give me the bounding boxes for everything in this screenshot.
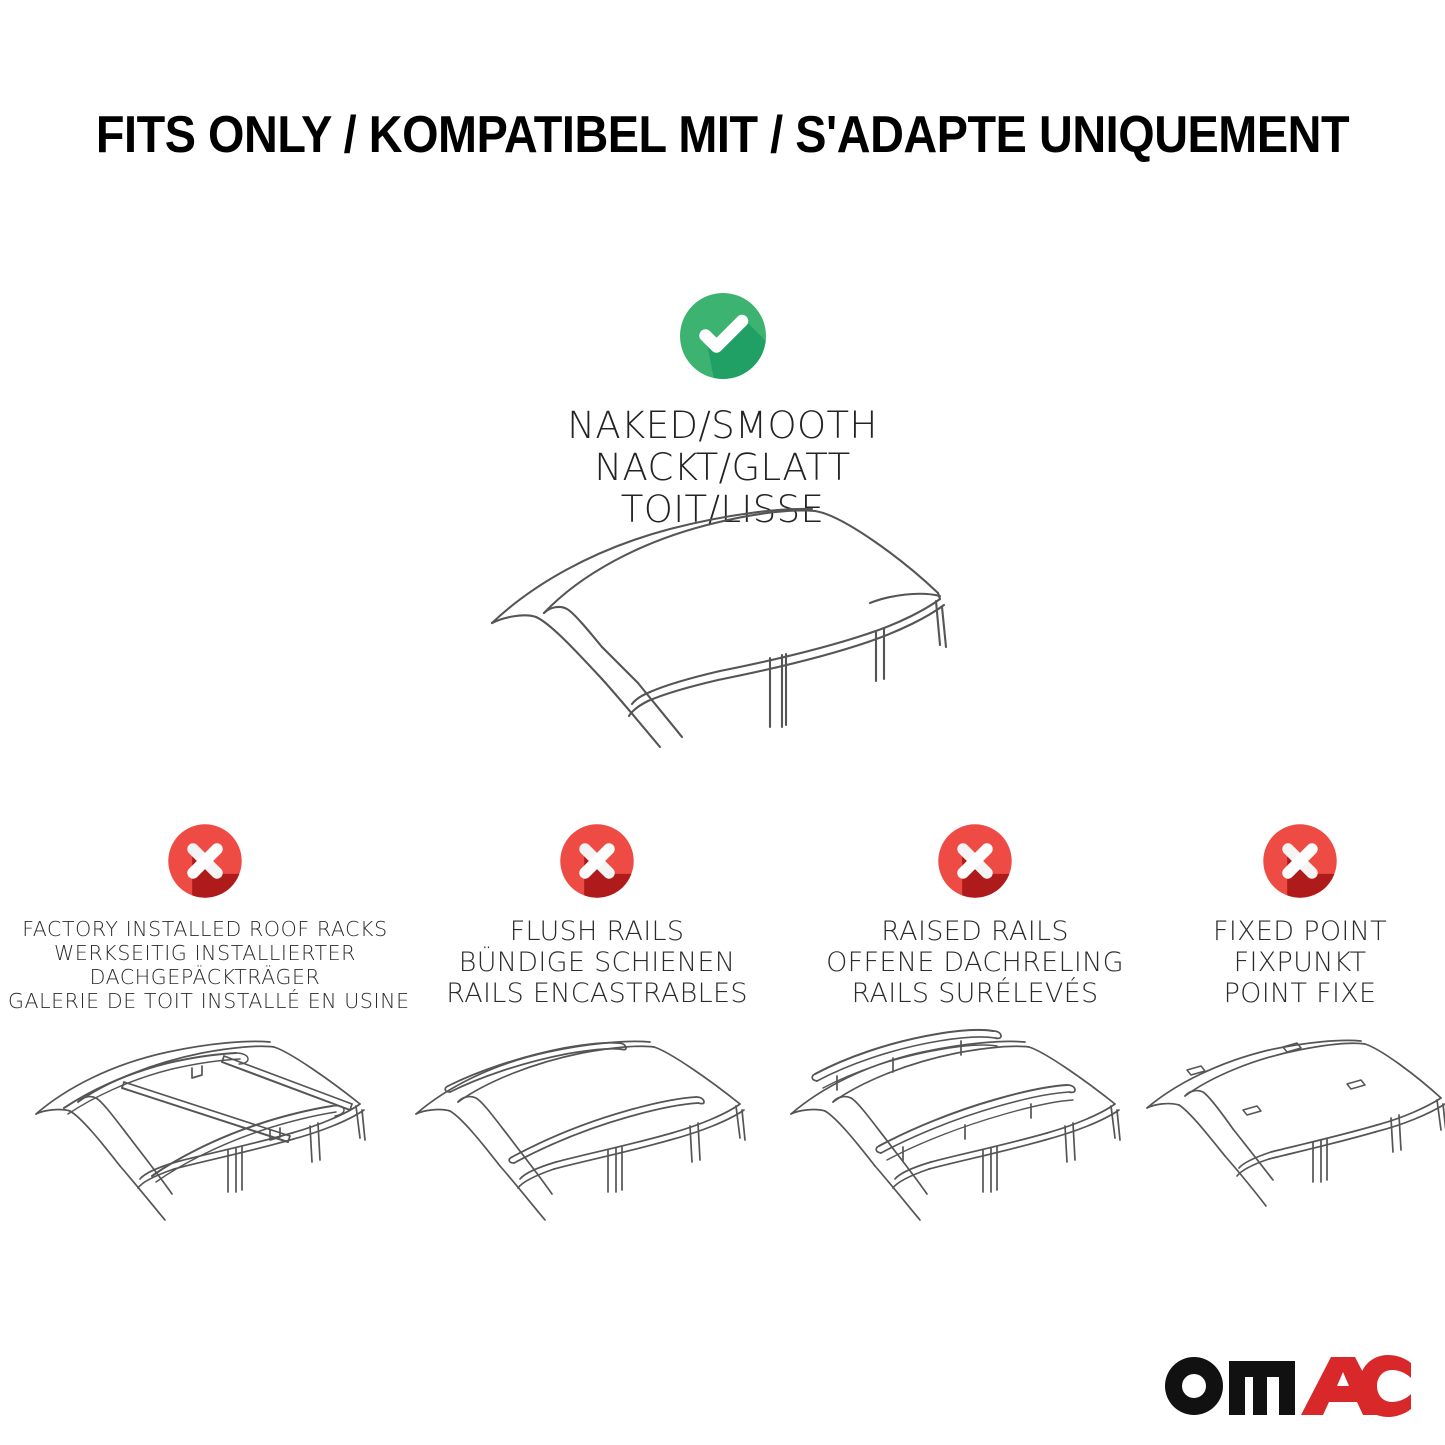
- check-circle-icon: [0, 288, 1445, 389]
- logo-letter-m: [1229, 1361, 1295, 1415]
- label-line-de: BÜNDIGE SCHIENEN: [412, 948, 782, 979]
- incompatible-item-factory-racks: FACTORY INSTALLED ROOF RACKS WERKSEITIG …: [8, 820, 402, 1013]
- car-roof-flush-rails-illustration: [400, 1030, 770, 1245]
- label-line-en: FACTORY INSTALLED ROOF RACKS: [8, 917, 402, 941]
- label-line-fr: GALERIE DE TOIT INSTALLÉ EN USINE: [8, 989, 402, 1013]
- incompatible-item-flush-rails: FLUSH RAILS BÜNDIGE SCHIENEN RAILS ENCAS…: [412, 820, 782, 1009]
- cross-circle-icon: [790, 820, 1160, 907]
- label-line-fr: RAILS SURÉLEVÉS: [790, 979, 1160, 1010]
- incompatible-label: FIXED POINT FIXPUNKT POINT FIXE: [1160, 917, 1440, 1009]
- compatible-label-line-de: NACKT/GLATT: [0, 447, 1445, 489]
- cross-circle-icon: [412, 820, 782, 907]
- incompatible-item-raised-rails: RAISED RAILS OFFENE DACHRELING RAILS SUR…: [790, 820, 1160, 1009]
- logo-letter-o: [1165, 1357, 1223, 1415]
- incompatible-label: RAISED RAILS OFFENE DACHRELING RAILS SUR…: [790, 917, 1160, 1009]
- car-roof-fixed-point-illustration: [1135, 1030, 1445, 1245]
- compatible-label-line-en: NAKED/SMOOTH: [0, 405, 1445, 447]
- label-line-fr: POINT FIXE: [1160, 979, 1440, 1010]
- incompatible-item-fixed-point: FIXED POINT FIXPUNKT POINT FIXE: [1160, 820, 1440, 1009]
- car-roof-naked-smooth-illustration: [470, 495, 980, 755]
- label-line-de-1: WERKSEITIG INSTALLIERTER: [8, 941, 402, 965]
- cross-circle-icon: [8, 820, 402, 907]
- label-line-en: RAISED RAILS: [790, 917, 1160, 948]
- label-line-de: OFFENE DACHRELING: [790, 948, 1160, 979]
- incompatible-label: FACTORY INSTALLED ROOF RACKS WERKSEITIG …: [8, 917, 402, 1013]
- omac-logo: [1161, 1347, 1411, 1417]
- label-line-en: FIXED POINT: [1160, 917, 1440, 948]
- label-line-fr: RAILS ENCASTRABLES: [412, 979, 782, 1010]
- incompatible-label: FLUSH RAILS BÜNDIGE SCHIENEN RAILS ENCAS…: [412, 917, 782, 1009]
- logo-letter-c: [1359, 1355, 1411, 1417]
- label-line-de: FIXPUNKT: [1160, 948, 1440, 979]
- label-line-de-2: DACHGEPÄCKTRÄGER: [8, 965, 402, 989]
- car-roof-factory-racks-illustration: [20, 1030, 390, 1245]
- car-roof-raised-rails-illustration: [775, 1030, 1145, 1245]
- incompatible-section: FACTORY INSTALLED ROOF RACKS WERKSEITIG …: [0, 820, 1445, 1320]
- page-title: FITS ONLY / KOMPATIBEL MIT / S'ADAPTE UN…: [72, 105, 1373, 165]
- label-line-en: FLUSH RAILS: [412, 917, 782, 948]
- cross-circle-icon: [1160, 820, 1440, 907]
